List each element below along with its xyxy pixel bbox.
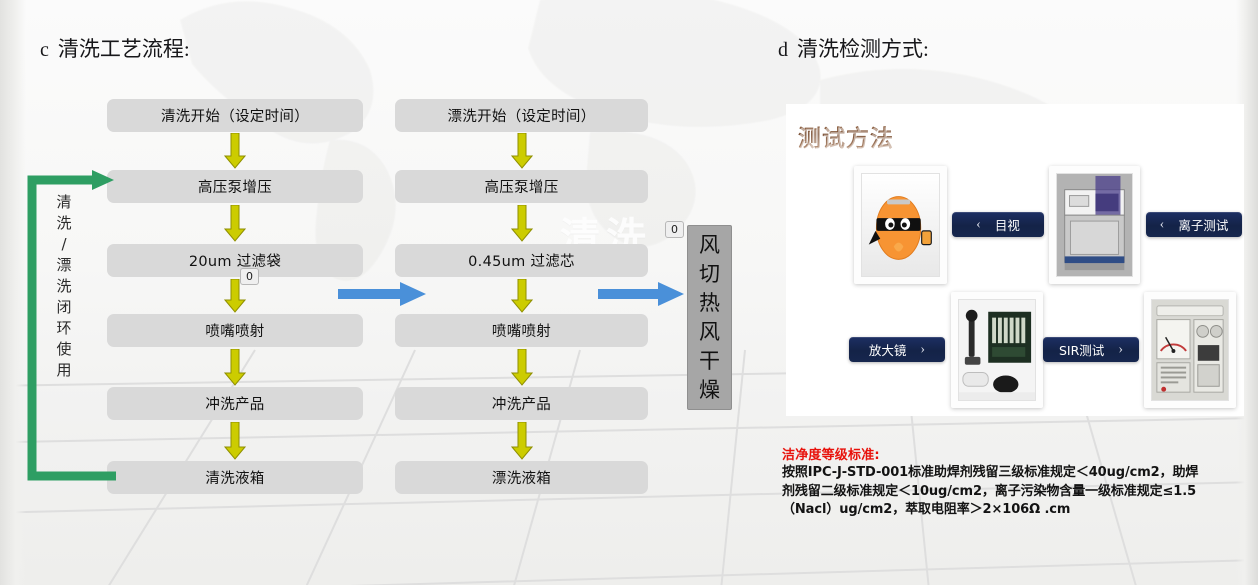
test-method-label-ionic[interactable]: ‹ 离子测试: [1146, 212, 1242, 237]
inspector-mascot-photo: [861, 173, 940, 277]
section-title-inspection: 清洗检测方式:: [797, 37, 929, 61]
flow-box-wash-filterbag[interactable]: 20um 过滤袋: [107, 244, 363, 277]
test-method-label-magnifier[interactable]: 放大镜 ›: [849, 337, 945, 362]
loop-label-char: 清: [53, 192, 75, 213]
test-method-label-sir[interactable]: SIR测试 ›: [1043, 337, 1139, 362]
arrow-down-rinse-2: [511, 205, 533, 242]
loop-label-char: 漂: [53, 255, 75, 276]
photo-frame-ionic[interactable]: [1049, 166, 1140, 284]
test-methods-panel: 测试方法: [786, 104, 1244, 416]
arrow-down-wash-2: [224, 205, 246, 242]
flow-box-wash-rinse[interactable]: 冲洗产品: [107, 387, 363, 420]
test-method-text-ionic: 离子测试: [1178, 215, 1228, 234]
section-letter-d: d: [778, 39, 788, 61]
photo-frame-visual[interactable]: [854, 166, 947, 284]
zero-badge-dryer[interactable]: 0: [665, 221, 684, 238]
ionic-contamination-tester-photo: [1056, 173, 1133, 277]
dryer-label-char: 热: [699, 289, 720, 318]
chevron-left-icon: ‹: [1160, 217, 1165, 233]
section-heading-process: c清洗工艺流程:: [40, 33, 190, 63]
flow-box-wash-tank[interactable]: 清洗液箱: [107, 461, 363, 494]
arrow-down-rinse-4: [511, 349, 533, 386]
chevron-right-icon: ›: [920, 342, 925, 358]
standard-note-title: 洁净度等级标准:: [782, 444, 1202, 463]
test-method-text-sir: SIR测试: [1059, 340, 1104, 359]
flow-box-rinse-pump[interactable]: 高压泵增压: [395, 170, 648, 203]
chevron-right-icon: ›: [1118, 342, 1123, 358]
photo-frame-sir[interactable]: [1144, 292, 1236, 408]
arrow-down-rinse-3: [511, 279, 533, 313]
flow-box-wash-pump[interactable]: 高压泵增压: [107, 170, 363, 203]
photo-frame-magnifier[interactable]: [951, 292, 1043, 408]
flow-box-rinse-tank[interactable]: 漂洗液箱: [395, 461, 648, 494]
flow-box-wash-start[interactable]: 清洗开始（设定时间）: [107, 99, 363, 132]
loop-label-text: 清洗/漂洗闭环使用: [53, 192, 75, 381]
loop-label-char: 使: [53, 339, 75, 360]
test-method-text-visual: 目视: [995, 215, 1020, 234]
flow-box-rinse-filtercore[interactable]: 0.45um 过滤芯: [395, 244, 648, 277]
arrow-right-wash-to-rinse: [338, 280, 428, 313]
loop-label-char: 洗: [53, 276, 75, 297]
dryer-label-char: 切: [699, 260, 720, 289]
cleanliness-standard-note: 洁净度等级标准: 按照IPC-J-STD-001标准助焊剂残留三级标准规定＜40…: [782, 444, 1202, 520]
microscope-pcb-photo: [958, 299, 1036, 401]
dryer-label-char: 风: [699, 231, 720, 260]
arrow-right-rinse-to-dry: [598, 280, 686, 313]
loop-label-char: 环: [53, 318, 75, 339]
chevron-left-icon: ‹: [976, 217, 981, 233]
test-method-text-magnifier: 放大镜: [869, 340, 907, 359]
arrow-down-wash-5: [224, 422, 246, 460]
section-letter-c: c: [40, 39, 49, 61]
flow-box-air-knife-dryer[interactable]: 风切热风干燥: [687, 225, 732, 410]
flow-box-rinse-start[interactable]: 漂洗开始（设定时间）: [395, 99, 648, 132]
arrow-down-rinse-1: [511, 133, 533, 169]
dryer-label-char: 燥: [699, 376, 720, 405]
section-title-process: 清洗工艺流程:: [58, 37, 190, 61]
arrow-down-wash-1: [224, 133, 246, 169]
flow-box-rinse-rinse[interactable]: 冲洗产品: [395, 387, 648, 420]
arrow-down-wash-4: [224, 349, 246, 386]
loop-label-char: 闭: [53, 297, 75, 318]
flow-box-wash-nozzle[interactable]: 喷嘴喷射: [107, 314, 363, 347]
loop-label-char: 用: [53, 360, 75, 381]
standard-note-body: 按照IPC-J-STD-001标准助焊剂残留三级标准规定＜40ug/cm2，助焊…: [782, 464, 1202, 520]
test-method-label-visual[interactable]: ‹ 目视: [952, 212, 1044, 237]
loop-label-char: 洗: [53, 213, 75, 234]
section-heading-inspection: d清洗检测方式:: [778, 33, 929, 63]
zero-badge-filter[interactable]: 0: [240, 268, 259, 285]
flow-box-rinse-nozzle[interactable]: 喷嘴喷射: [395, 314, 648, 347]
dryer-label-char: 风: [699, 318, 720, 347]
loop-label-char: /: [53, 234, 75, 255]
panel-title: 测试方法: [798, 119, 894, 153]
dryer-label-char: 干: [699, 347, 720, 376]
sir-test-meter-photo: [1151, 299, 1229, 401]
arrow-down-rinse-5: [511, 422, 533, 460]
